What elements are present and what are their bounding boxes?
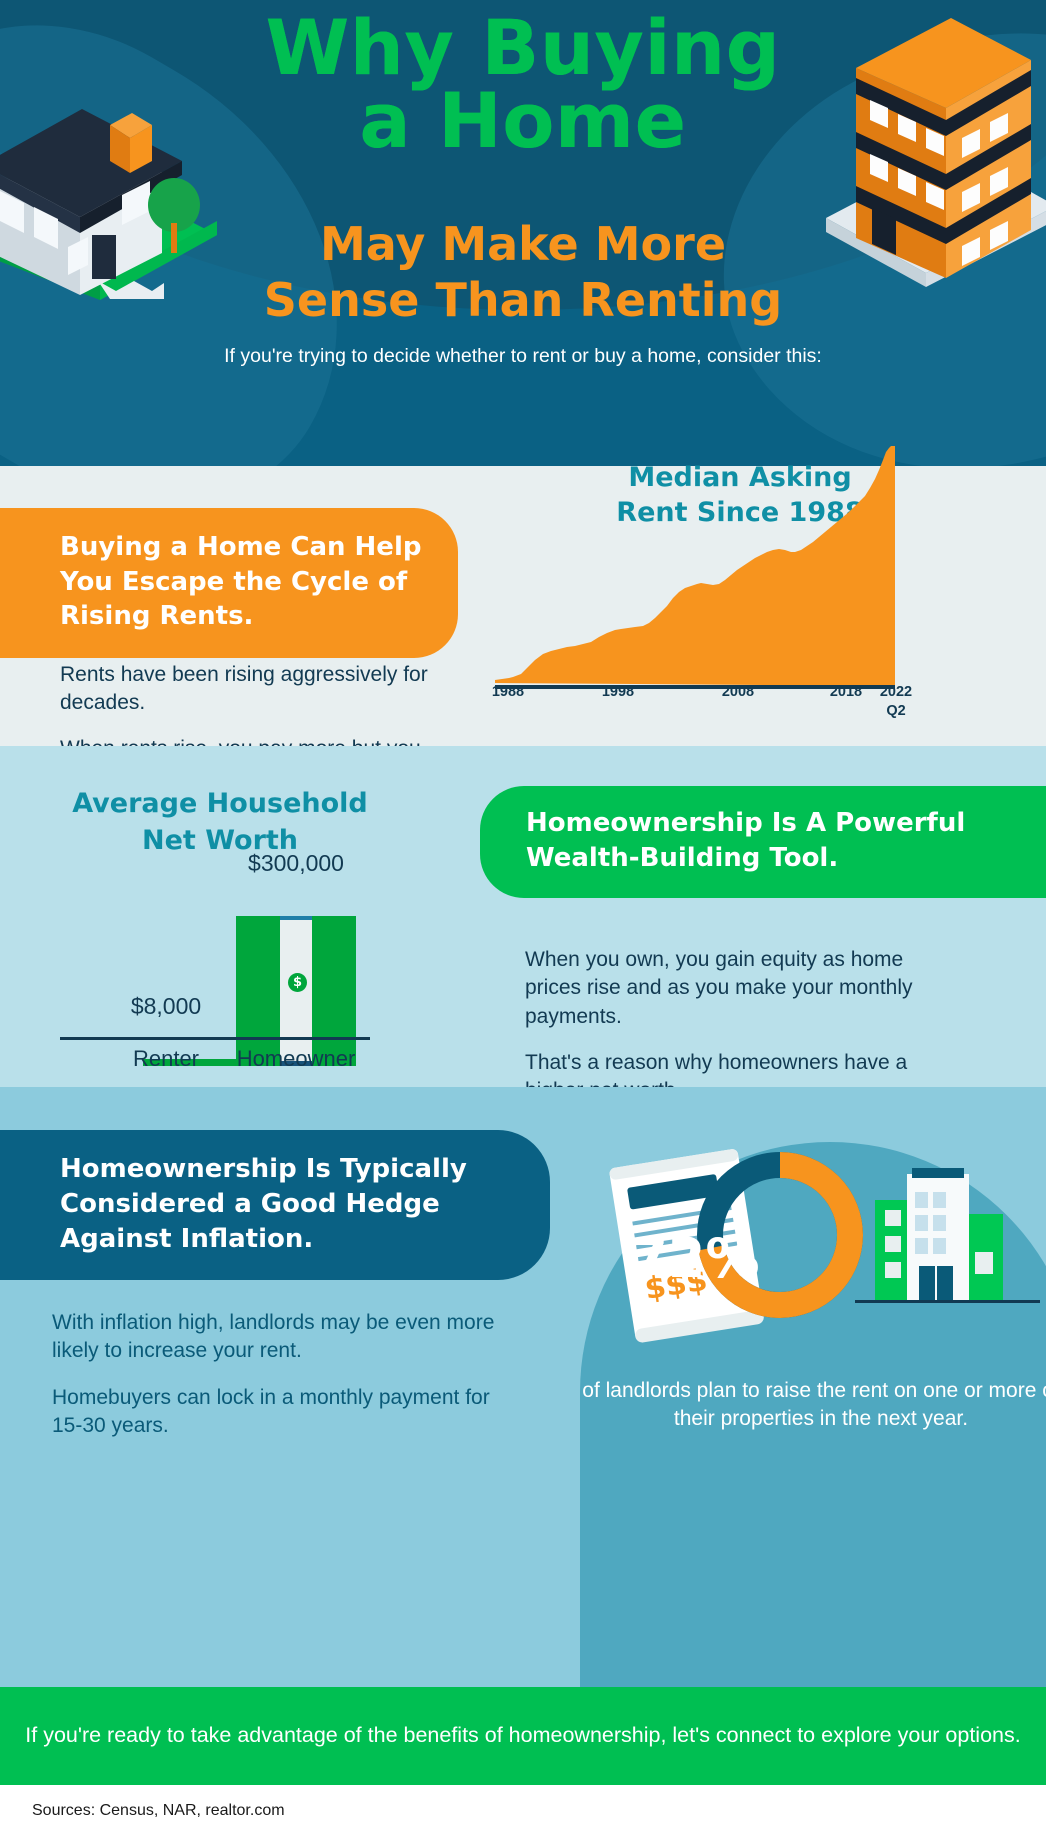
median-asking-rent-area-chart xyxy=(495,446,1015,696)
median-rent-area-series xyxy=(495,446,895,686)
tick-label-1998: 1998 xyxy=(588,684,648,700)
tick-label-2022: 2022 xyxy=(866,684,926,700)
bar-value-label-renter: $8,000 xyxy=(76,993,256,1020)
tick-label-1988: 1988 xyxy=(478,684,538,700)
net-worth-chart-title-line1: Average Household xyxy=(72,788,368,819)
net-worth-chart-title: Average Household Net Worth xyxy=(20,786,420,859)
ground-line xyxy=(855,1300,1040,1303)
page-subtitle-line2: Sense Than Renting xyxy=(264,273,782,327)
bar-homeowner-left xyxy=(236,916,280,1066)
section-inflation-hedge: Homeownership Is Typically Considered a … xyxy=(0,1087,1046,1687)
rising-rents-headline-pill: Buying a Home Can Help You Escape the Cy… xyxy=(0,508,458,658)
page-title: Why Buying a Home xyxy=(0,12,1046,158)
call-to-action-banner: If you're ready to take advantage of the… xyxy=(0,1687,1046,1785)
inflation-hedge-body: With inflation high, landlords may be ev… xyxy=(52,1309,522,1458)
section-rising-rents: Buying a Home Can Help You Escape the Cy… xyxy=(0,466,1046,746)
donut-percentage-label: 72% xyxy=(605,1227,785,1290)
footer: Sources: Census, NAR, realtor.com xyxy=(0,1785,1046,1845)
hero-banner: Why Buying a Home May Make More Sense Th… xyxy=(0,0,1046,466)
bar-category-homeowner: Homeowner xyxy=(188,1046,404,1072)
donut-caption: of landlords plan to raise the rent on o… xyxy=(576,1377,1046,1433)
bar-homeowner-bill-cap xyxy=(280,916,312,920)
tick-label-2008: 2008 xyxy=(708,684,768,700)
dollar-coin-icon: $ xyxy=(288,973,307,992)
page-title-line2: a Home xyxy=(0,85,1046,158)
page-subtitle-line1: May Make More xyxy=(320,217,726,271)
inflation-hedge-paragraph-2: Homebuyers can lock in a monthly payment… xyxy=(52,1384,522,1441)
wealth-building-paragraph-1: When you own, you gain equity as home pr… xyxy=(525,946,955,1031)
net-worth-baseline-axis xyxy=(60,1037,370,1040)
bar-homeowner-right xyxy=(312,916,356,1066)
rising-rents-paragraph-1: Rents have been rising aggressively for … xyxy=(60,661,460,717)
tick-label-2022-q2: Q2 xyxy=(866,703,926,719)
bar-value-label-homeowner: $300,000 xyxy=(188,850,404,877)
sources-label: Sources: Census, NAR, realtor.com xyxy=(32,1802,285,1820)
section-net-worth: Average Household Net Worth $300,000 $8,… xyxy=(0,746,1046,1087)
wealth-building-headline-pill: Homeownership Is A Powerful Wealth-Build… xyxy=(480,786,1046,898)
median-rent-axis-tick-labels: 1988 1998 2008 2018 2022 Q2 xyxy=(488,684,1008,734)
page-subtitle: May Make More Sense Than Renting xyxy=(0,216,1046,328)
inflation-hedge-paragraph-1: With inflation high, landlords may be ev… xyxy=(52,1309,522,1366)
median-rent-area-svg xyxy=(495,446,1015,696)
bar-homeowner: $ xyxy=(236,916,356,1066)
hero-intro-text: If you're trying to decide whether to re… xyxy=(0,345,1046,368)
call-to-action-text: If you're ready to take advantage of the… xyxy=(25,1721,1020,1751)
inflation-hedge-headline-pill: Homeownership Is Typically Considered a … xyxy=(0,1130,550,1280)
